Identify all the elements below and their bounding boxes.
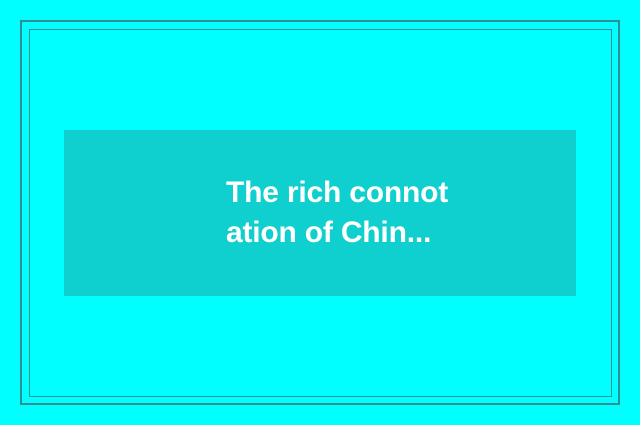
headline-line-1: The rich connot	[226, 173, 448, 213]
headline-panel: The rich connot ation of Chin...	[64, 130, 576, 296]
headline-line-2: ation of Chin...	[226, 213, 431, 253]
slide-canvas: The rich connot ation of Chin...	[0, 0, 640, 425]
